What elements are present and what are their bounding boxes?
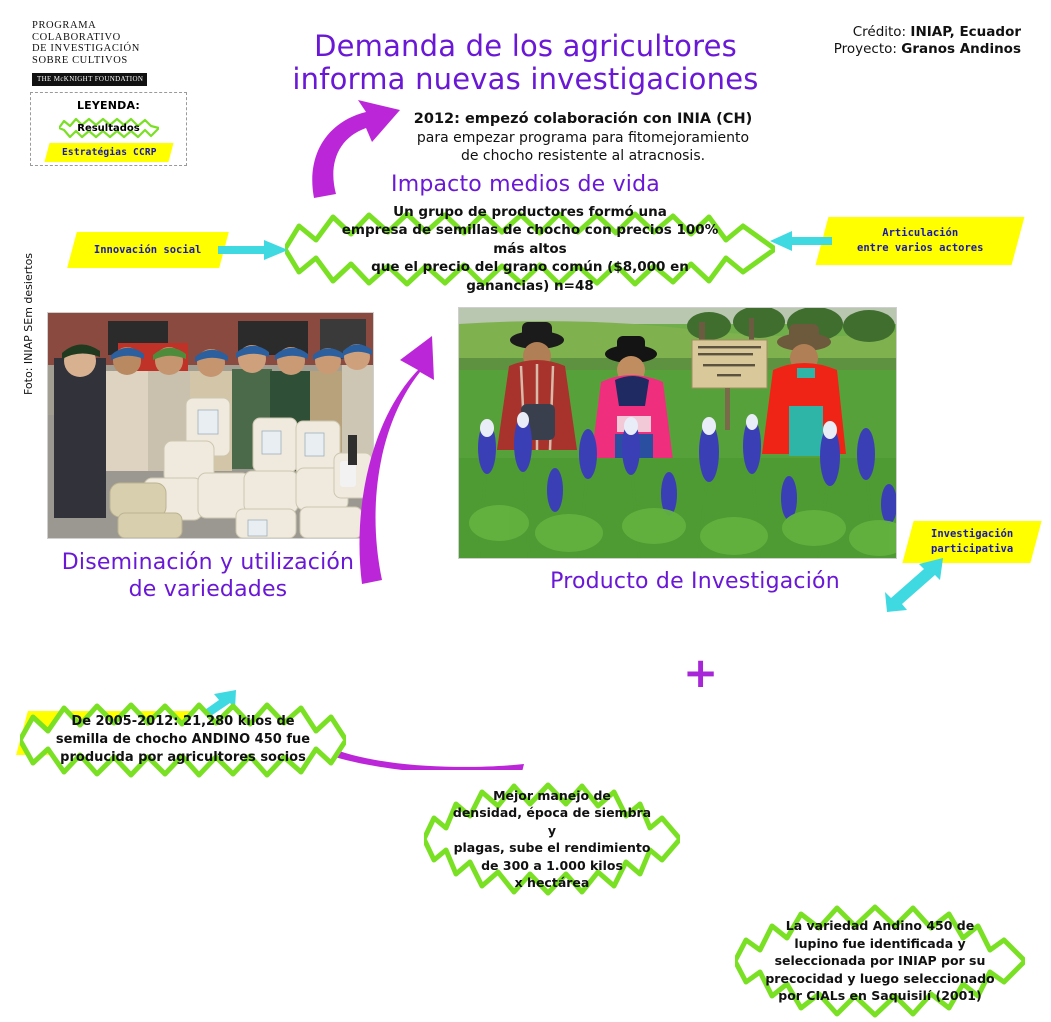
- tag-articulacion-label: Articulación entre varios actores: [857, 226, 983, 256]
- tag-innovacion-social: Innovación social: [67, 232, 229, 268]
- legend-result-burst: Resultados: [59, 117, 159, 139]
- intro-2012-bold: 2012: empezó colaboración con INIA (CH): [393, 110, 773, 129]
- burst-variedad-text: La variedad Andino 450 de lupino fue ide…: [735, 900, 1025, 1022]
- photo-farmers-with-seed-sacks: [47, 312, 374, 539]
- plus-symbol: +: [683, 652, 718, 694]
- heading-diseminacion: Diseminación y utilización de variedades: [48, 549, 368, 603]
- photo-left-art: [48, 313, 373, 538]
- cyan-arrow-investigacion-participativa: [885, 556, 945, 612]
- legend-title: LEYENDA:: [31, 99, 186, 112]
- burst-manejo-result: Mejor manejo de densidad, época de siemb…: [424, 778, 680, 900]
- burst-impacto-text: Un grupo de productores formó una empres…: [285, 208, 775, 290]
- burst-diseminacion-text: De 2005-2012: 21,280 kilos de semilla de…: [20, 699, 346, 781]
- legend-result-label: Resultados: [59, 117, 159, 139]
- legend-strategy-label: Estratégias CCRP: [61, 147, 156, 158]
- heading-producto-investigacion: Producto de Investigación: [530, 569, 860, 594]
- burst-impacto-result: Un grupo de productores formó una empres…: [285, 208, 775, 290]
- intro-2012-rest: para empezar programa para fitomejoramie…: [393, 129, 773, 166]
- photo-caption-left: Foto: INIAP SEm desiertos: [22, 255, 35, 395]
- burst-diseminacion-result: De 2005-2012: 21,280 kilos de semilla de…: [20, 699, 346, 781]
- burst-manejo-text: Mejor manejo de densidad, época de siemb…: [424, 778, 680, 900]
- tag-articulacion: Articulación entre varios actores: [816, 217, 1025, 265]
- cyan-arrow-innovacion: [218, 238, 288, 262]
- tag-investigacion-participativa-label: Investigación participativa: [931, 527, 1013, 557]
- purple-arrow-to-title: [296, 94, 406, 204]
- tag-innovacion-label: Innovación social: [94, 243, 201, 258]
- heading-impacto-medios-de-vida: Impacto medios de vida: [0, 172, 1051, 197]
- legend-box: LEYENDA: Resultados Estratégias CCRP: [30, 92, 187, 166]
- cyan-arrow-articulacion: [770, 229, 832, 253]
- intro-2012-text: 2012: empezó colaboración con INIA (CH) …: [393, 110, 773, 166]
- legend-strategy-strip: Estratégias CCRP: [44, 143, 173, 162]
- photo-lupine-field-participants: [458, 307, 897, 559]
- photo-right-art: [459, 308, 896, 558]
- burst-variedad-result: La variedad Andino 450 de lupino fue ide…: [735, 900, 1025, 1022]
- page-title: Demanda de los agricultores informa nuev…: [0, 30, 1051, 96]
